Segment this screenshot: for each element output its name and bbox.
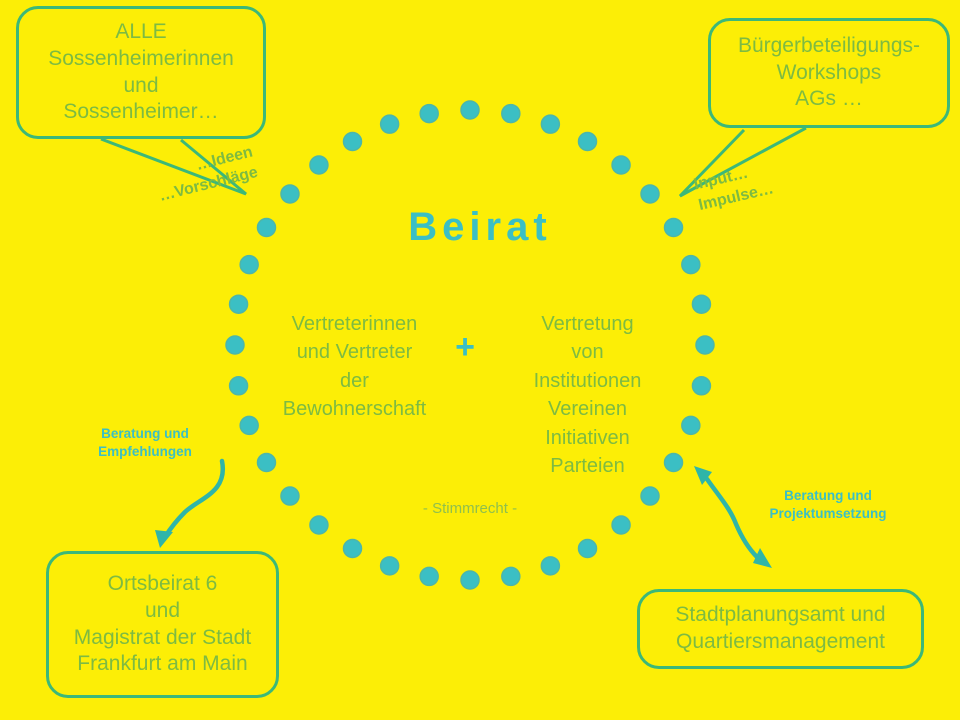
ring-dot [461, 101, 479, 119]
ring-dot [692, 295, 710, 313]
flow-label-beratung-empfehlungen: Beratung und Empfehlungen [72, 425, 218, 461]
ring-dot [420, 105, 438, 123]
ring-dot [230, 377, 248, 395]
ring-dot [381, 557, 399, 575]
arrowhead-bottom-left [155, 530, 173, 548]
ring-dot [612, 156, 630, 174]
bubble-stadtplanungsamt: Stadtplanungsamt und Quartiersmanagement [637, 589, 924, 669]
flow-label-beratung-projektumsetzung: Beratung und Projektumsetzung [744, 487, 912, 523]
ring-dot [461, 571, 479, 589]
ring-dot [692, 377, 710, 395]
center-column-left: Vertreterinnen und Vertreter der Bewohne… [272, 310, 437, 424]
arrow-beratung-empfehlungen [165, 461, 223, 537]
bubble-alle-sossenheimer: ALLE Sossenheimerinnen und Sossenheimer… [16, 6, 266, 139]
tail-label-ideen-vorschlaege: …Ideen …Vorschläge [124, 143, 260, 215]
ring-dot [579, 132, 597, 150]
ring-dot [641, 487, 659, 505]
ring-dot [344, 540, 362, 558]
arrowhead-bottom-right-up [694, 466, 712, 485]
ring-dot [381, 115, 399, 133]
ring-dot [541, 115, 559, 133]
ring-dot [281, 185, 299, 203]
ring-dot [682, 416, 700, 434]
ring-dot [579, 540, 597, 558]
ring-dot [696, 336, 714, 354]
bubble-ortsbeirat-magistrat: Ortsbeirat 6 und Magistrat der Stadt Fra… [46, 551, 279, 698]
ring-dot [502, 567, 520, 585]
plus-icon: + [443, 330, 487, 364]
ring-dot [240, 416, 258, 434]
ring-dot [310, 156, 328, 174]
ring-dot [230, 295, 248, 313]
ring-dot [420, 567, 438, 585]
ring-dot [226, 336, 244, 354]
ring-dot [344, 132, 362, 150]
center-column-right: Vertretung von Institutionen Vereinen In… [505, 310, 670, 480]
ring-dot [682, 256, 700, 274]
diagram-canvas: Beirat Vertreterinnen und Vertreter der … [0, 0, 960, 720]
ring-dot [257, 454, 275, 472]
center-footnote: - Stimmrecht - [340, 500, 600, 517]
ring-dot [541, 557, 559, 575]
bubble-buergerbeteiligung: Bürgerbeteiligungs- Workshops AGs … [708, 18, 950, 128]
ring-dot [240, 256, 258, 274]
ring-dot [310, 516, 328, 534]
ring-dot [281, 487, 299, 505]
ring-dot [641, 185, 659, 203]
ring-dot [502, 105, 520, 123]
arrowhead-bottom-right-down [753, 548, 772, 568]
ring-dot [612, 516, 630, 534]
